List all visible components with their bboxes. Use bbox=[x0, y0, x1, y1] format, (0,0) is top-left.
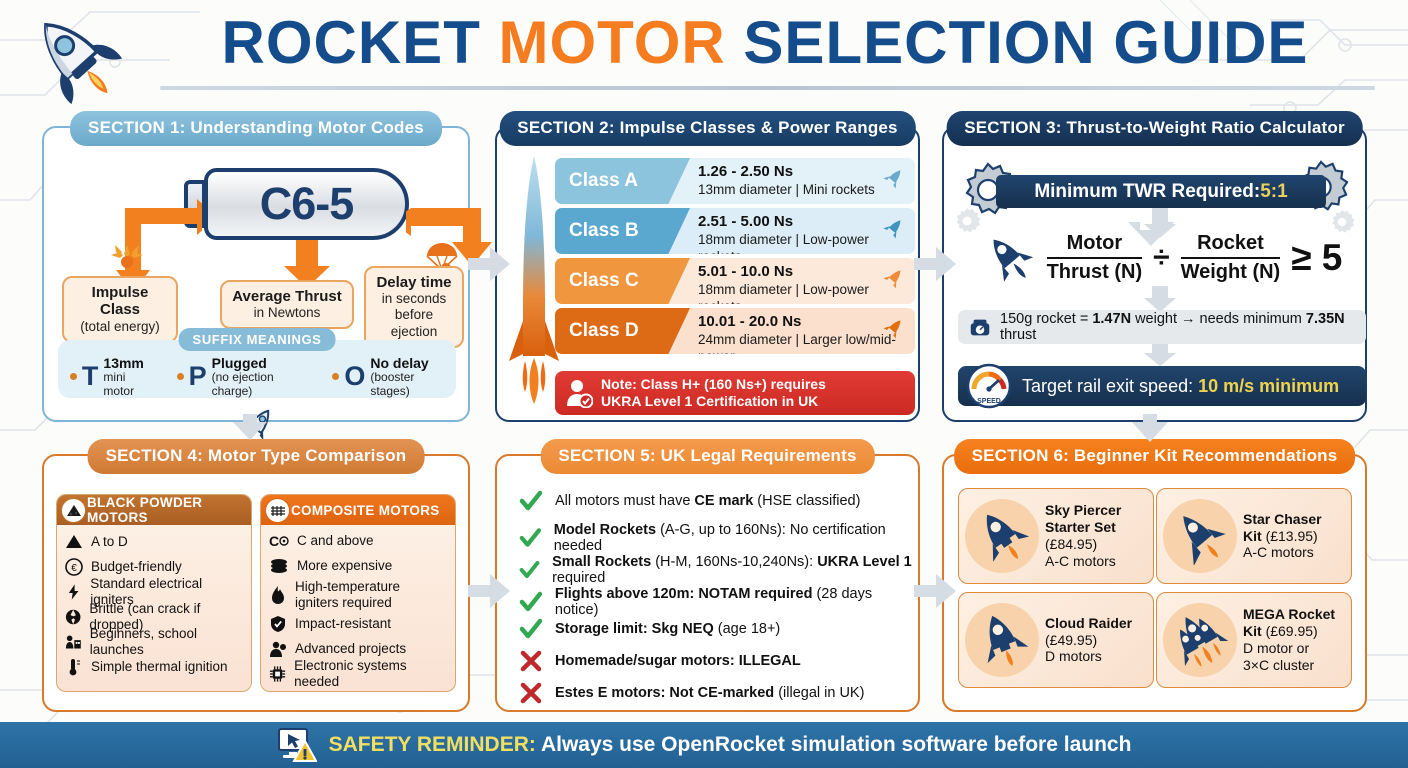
infographic-page: ROCKET MOTOR SELECTION GUIDE SECTION 1: … bbox=[0, 0, 1408, 768]
connector-arrows bbox=[0, 0, 1408, 768]
